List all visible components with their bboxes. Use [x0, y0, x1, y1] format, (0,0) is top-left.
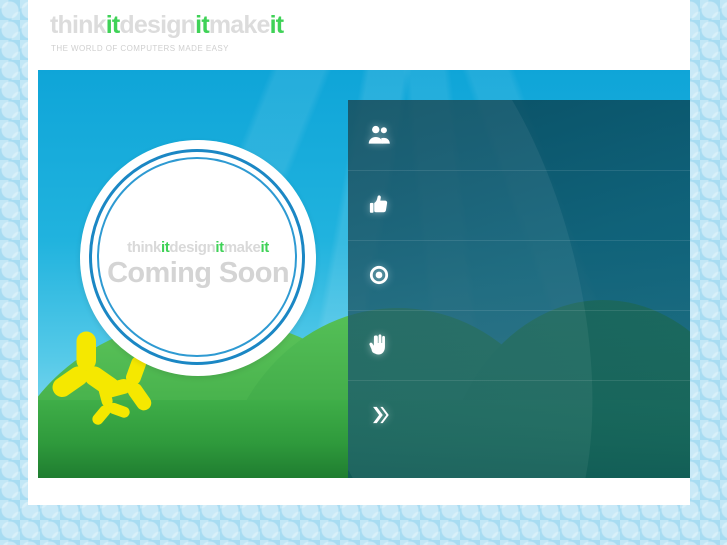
feature-row-thumbs-up[interactable] [348, 170, 690, 241]
ok-hand-icon [366, 332, 392, 358]
page-container: thinkitdesignitmakeit THE WORLD OF COMPU… [28, 0, 690, 505]
users-icon [366, 122, 392, 148]
badge-text-block: thinkitdesignitmakeit Coming Soon [80, 240, 316, 288]
feature-row-users[interactable] [348, 100, 690, 171]
logo-word-design: design [119, 11, 195, 39]
badge-logo: thinkitdesignitmakeit [80, 240, 316, 255]
feature-panel [348, 100, 690, 478]
badge-logo-word-make: make [224, 239, 261, 256]
site-logo[interactable]: thinkitdesignitmakeit [50, 13, 283, 38]
badge-logo-word-design: design [169, 239, 215, 256]
logo-word-think: think [50, 11, 106, 39]
logo-word-it-2: it [195, 11, 209, 39]
quote-chevron-icon [366, 402, 392, 428]
thumbs-up-icon [366, 192, 392, 218]
feature-row-ok-hand[interactable] [348, 310, 690, 381]
badge-logo-word-think: think [127, 239, 161, 256]
target-circle-icon [366, 262, 392, 288]
feature-row-quote[interactable] [348, 380, 690, 450]
badge-logo-word-it-3: it [260, 239, 268, 256]
logo-word-make: make [209, 11, 270, 39]
site-tagline: THE WORLD OF COMPUTERS MADE EASY [51, 44, 229, 53]
hero-banner: thinkitdesignitmakeit Coming Soon [38, 70, 690, 478]
badge-logo-word-it-2: it [215, 239, 223, 256]
coming-soon-headline: Coming Soon [80, 258, 316, 288]
coming-soon-badge: thinkitdesignitmakeit Coming Soon [80, 140, 316, 376]
logo-word-it-1: it [106, 11, 120, 39]
logo-word-it-3: it [270, 11, 284, 39]
feature-row-target[interactable] [348, 240, 690, 311]
site-header: thinkitdesignitmakeit THE WORLD OF COMPU… [28, 0, 690, 70]
footer-strip [28, 478, 690, 505]
